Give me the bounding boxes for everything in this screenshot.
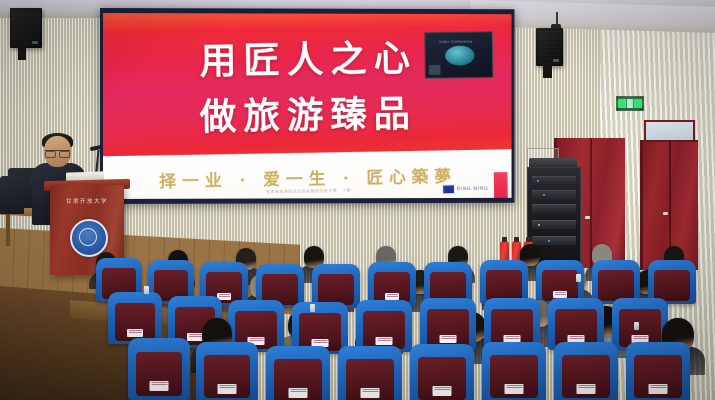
rack-slot xyxy=(532,204,576,213)
presenter-head xyxy=(44,136,71,167)
chair-name-tag xyxy=(218,384,237,394)
audience-phone xyxy=(634,322,639,330)
chair-name-tag xyxy=(433,386,452,396)
chair-name-tag xyxy=(440,335,457,343)
exit-sign-glow-right xyxy=(634,99,642,108)
audience-chair xyxy=(108,292,162,344)
rack-led-icon xyxy=(537,180,539,182)
video-call-thumbnail xyxy=(429,65,441,75)
chair-name-tag xyxy=(649,384,668,394)
rack-led-icon xyxy=(543,194,545,196)
chair-seat-pad xyxy=(598,270,634,302)
rack-slot xyxy=(532,190,576,199)
audience-chair xyxy=(338,346,402,400)
audience-seating xyxy=(0,226,715,400)
chair-seat-pad xyxy=(654,270,690,302)
presenter-glasses-icon xyxy=(45,150,70,156)
audience-chair xyxy=(128,338,190,400)
chair-name-tag xyxy=(150,381,169,391)
speaker-mount-left xyxy=(18,46,26,60)
audience-phone xyxy=(576,274,581,282)
slide-red-accent-tab xyxy=(494,172,508,199)
door-handle-right[interactable] xyxy=(663,212,668,215)
audience-phone xyxy=(310,304,315,312)
audience-chair xyxy=(266,346,330,400)
audience-chair xyxy=(420,298,476,350)
audience-chair xyxy=(554,342,618,400)
emergency-exit-sign-icon xyxy=(616,96,644,111)
audience-phone xyxy=(144,286,149,294)
video-call-caption: Video Conference xyxy=(439,40,473,44)
stage-chair xyxy=(0,176,24,214)
slide-title-line-2: 做旅游臻品 xyxy=(103,82,512,142)
video-call-avatar-icon xyxy=(445,45,475,65)
chair-seat-pad xyxy=(318,274,354,306)
wall-speaker-right xyxy=(536,28,563,66)
projection-screen: 用匠人之心 做旅游臻品 择一业 · 爱一生 · 匠心築夢 甘肃省旅游饭店业协会服… xyxy=(100,8,514,204)
sponsor-logo-mark-icon xyxy=(442,184,455,194)
projection-screen-surface: 用匠人之心 做旅游臻品 择一业 · 爱一生 · 匠心築夢 甘肃省旅游饭店业协会服… xyxy=(103,13,512,199)
audience-chair xyxy=(410,344,474,400)
chair-name-tag xyxy=(289,388,308,398)
video-conference-window: Video Conference xyxy=(424,31,493,78)
audience-chair xyxy=(196,342,258,400)
door-handle-center[interactable] xyxy=(585,216,590,219)
speaker-badge xyxy=(32,41,38,44)
exit-sign-glow-left xyxy=(618,99,626,108)
sponsor-logo-text: DING MING xyxy=(456,186,488,193)
slide-sponsor-logo: DING MING xyxy=(442,184,488,195)
conference-hall-scene: 用匠人之心 做旅游臻品 择一业 · 爱一生 · 匠心築夢 甘肃省旅游饭店业协会服… xyxy=(0,0,715,400)
chair-name-tag xyxy=(376,337,393,345)
exit-sign-running-man-icon xyxy=(627,99,633,108)
chair-name-tag xyxy=(127,329,143,337)
wall-speaker-left xyxy=(10,8,42,48)
chair-name-tag xyxy=(577,384,596,394)
audience-chair xyxy=(626,342,690,400)
chair-name-tag xyxy=(505,384,524,394)
chair-name-tag xyxy=(553,291,567,298)
audience-chair xyxy=(356,300,412,352)
chair-name-tag xyxy=(361,388,380,398)
chair-name-tag xyxy=(385,293,399,300)
chair-seat-pad xyxy=(486,270,522,302)
speaker-badge xyxy=(553,59,559,62)
speaker-mount-right xyxy=(543,64,552,78)
audience-chair xyxy=(482,342,546,400)
podium-institution-label: 甘肃开放大学 xyxy=(50,197,124,205)
